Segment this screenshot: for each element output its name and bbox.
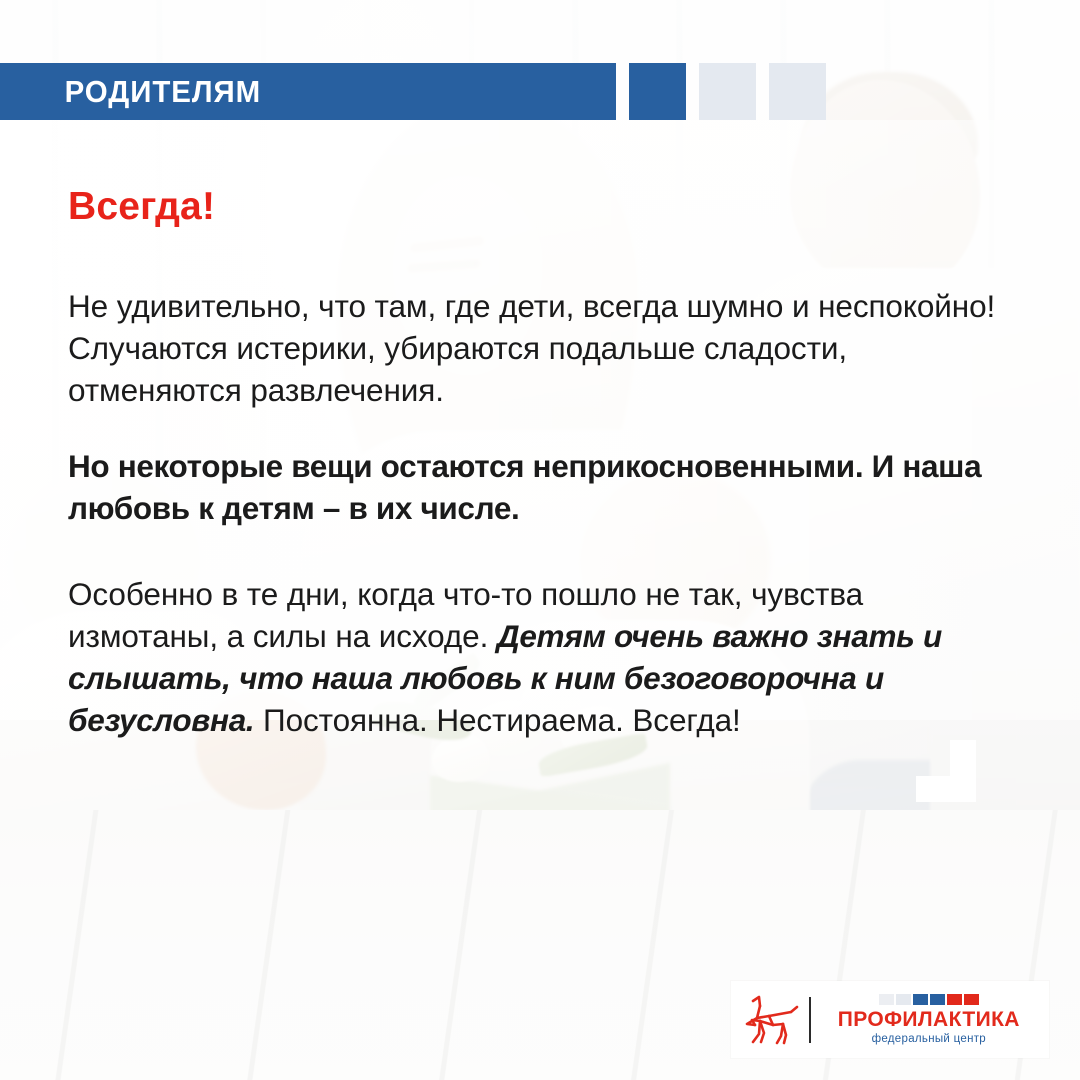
logo-swatch-6 bbox=[964, 994, 979, 1005]
header-title-bar: РОДИТЕЛЯМ bbox=[0, 63, 616, 120]
paragraph-closing: Особенно в те дни, когда что-то пошло не… bbox=[68, 573, 1018, 741]
paragraph-emphasis-bold: Но некоторые вещи остаются неприкосновен… bbox=[68, 445, 1018, 529]
page-title: РОДИТЕЛЯМ bbox=[0, 74, 261, 110]
paragraph-intro: Не удивительно, что там, где дети, всегд… bbox=[68, 285, 1018, 411]
logo-swatch-3 bbox=[913, 994, 928, 1005]
header-bar: РОДИТЕЛЯМ bbox=[0, 63, 1080, 120]
corner-mark-horizontal bbox=[916, 776, 976, 802]
white-l-corner-mark bbox=[916, 740, 976, 802]
header-block-pale-2 bbox=[769, 63, 826, 120]
logo-swatch-2 bbox=[896, 994, 911, 1005]
closing-tail-text: Постоянна. Нестираема. Всегда! bbox=[254, 702, 740, 738]
logo-profilaktika[interactable]: ПРОФИЛАКТИКА федеральный центр bbox=[731, 981, 1049, 1058]
logo-name: ПРОФИЛАКТИКА bbox=[838, 1009, 1020, 1030]
headline-vsegda: Всегда! bbox=[68, 185, 1018, 229]
header-block-blue bbox=[629, 63, 686, 120]
header-block-pale-1 bbox=[699, 63, 756, 120]
content-block: Всегда! Не удивительно, что там, где дет… bbox=[68, 185, 1018, 779]
logo-text-group: ПРОФИЛАКТИКА федеральный центр bbox=[811, 994, 1049, 1046]
poster-canvas: РОДИТЕЛЯМ Всегда! Не удивительно, что та… bbox=[0, 0, 1080, 1080]
logo-color-swatches bbox=[879, 994, 979, 1005]
logo-swatch-1 bbox=[879, 994, 894, 1005]
logo-swatch-5 bbox=[947, 994, 962, 1005]
logo-subtitle: федеральный центр bbox=[872, 1034, 986, 1046]
logo-swatch-4 bbox=[930, 994, 945, 1005]
red-dog-line-art-icon bbox=[731, 981, 809, 1058]
